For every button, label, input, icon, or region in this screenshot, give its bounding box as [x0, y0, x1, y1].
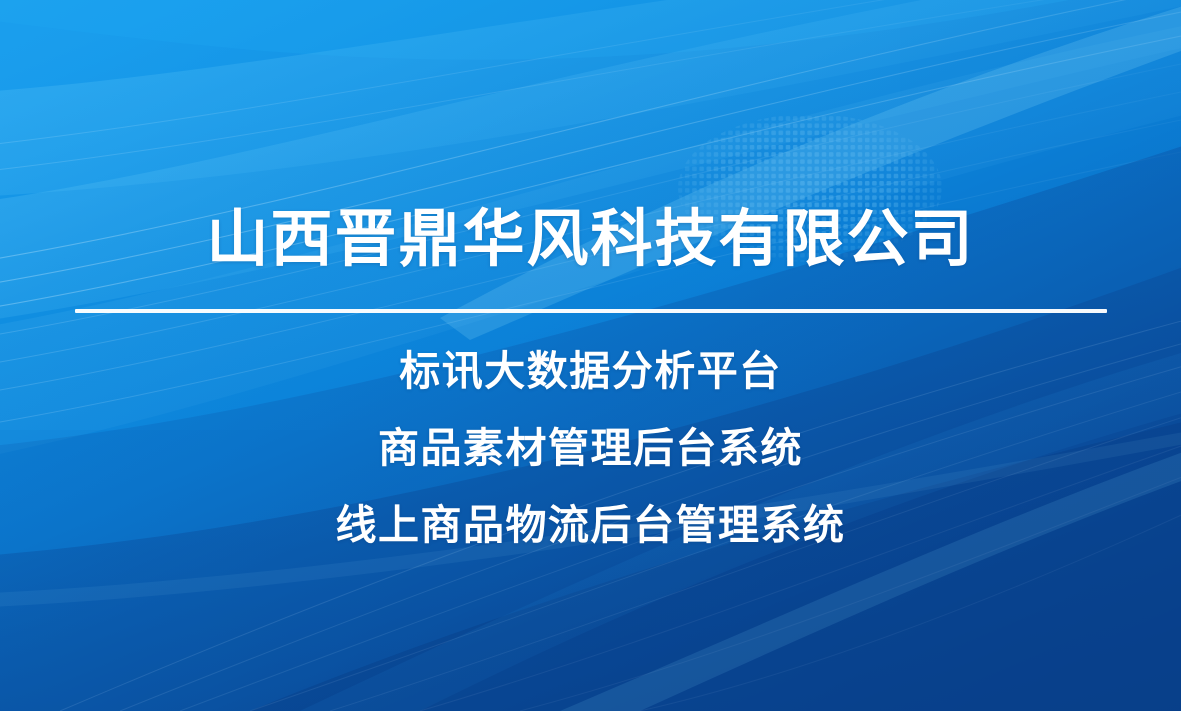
title-divider — [75, 309, 1107, 313]
banner-content: 山西晋鼎华风科技有限公司 标讯大数据分析平台 商品素材管理后台系统 线上商品物流… — [0, 0, 1181, 711]
product-list: 标讯大数据分析平台 商品素材管理后台系统 线上商品物流后台管理系统 — [0, 340, 1181, 556]
company-banner: 山西晋鼎华风科技有限公司 标讯大数据分析平台 商品素材管理后台系统 线上商品物流… — [0, 0, 1181, 711]
product-line-3: 线上商品物流后台管理系统 — [0, 494, 1181, 556]
product-line-1: 标讯大数据分析平台 — [0, 340, 1181, 402]
product-line-2: 商品素材管理后台系统 — [0, 417, 1181, 479]
company-name-title: 山西晋鼎华风科技有限公司 — [0, 200, 1181, 280]
